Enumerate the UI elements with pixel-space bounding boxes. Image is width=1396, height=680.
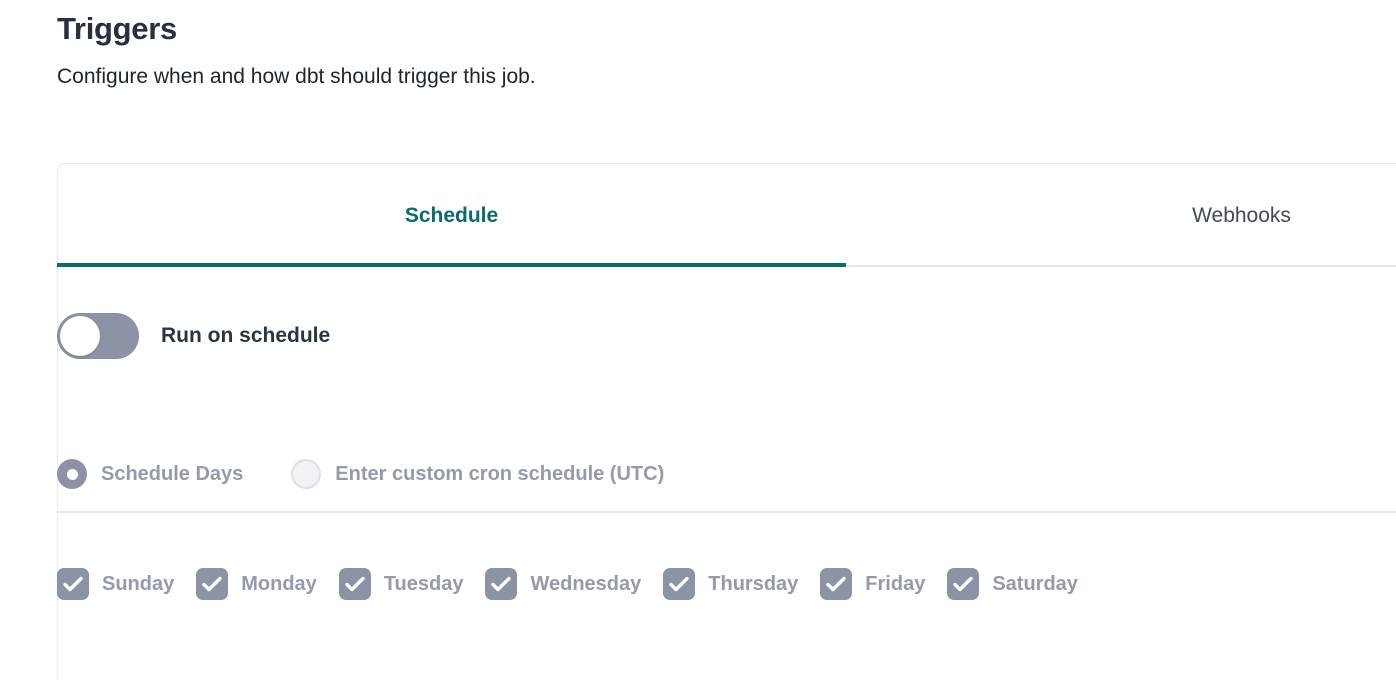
radio-label-custom-cron: Enter custom cron schedule (UTC) [335, 463, 664, 486]
day-label-friday: Friday [865, 573, 925, 596]
day-checkbox-wednesday[interactable]: Wednesday [485, 568, 641, 600]
tab-bar: Schedule Webhooks [58, 164, 1396, 267]
check-icon [196, 568, 228, 600]
check-icon [947, 568, 979, 600]
day-label-sunday: Sunday [102, 573, 174, 596]
check-icon [57, 568, 89, 600]
check-icon [339, 568, 371, 600]
page-title: Triggers [57, 10, 1347, 47]
day-checkbox-tuesday[interactable]: Tuesday [339, 568, 464, 600]
check-icon [663, 568, 695, 600]
tab-schedule[interactable]: Schedule [57, 164, 846, 267]
radio-option-schedule-days[interactable]: Schedule Days [57, 459, 243, 489]
radio-label-schedule-days: Schedule Days [101, 463, 243, 486]
run-on-schedule-row: Run on schedule [57, 313, 330, 359]
tab-webhooks-label: Webhooks [1192, 204, 1291, 228]
day-checkbox-monday[interactable]: Monday [196, 568, 317, 600]
run-on-schedule-label: Run on schedule [161, 324, 330, 348]
day-checkbox-thursday[interactable]: Thursday [663, 568, 798, 600]
page-subtitle: Configure when and how dbt should trigge… [57, 63, 1347, 90]
tab-active-indicator [57, 263, 846, 267]
radio-unchecked-icon [291, 459, 321, 489]
tab-schedule-label: Schedule [405, 204, 498, 228]
radio-checked-icon [57, 459, 87, 489]
check-icon [485, 568, 517, 600]
day-checkbox-saturday[interactable]: Saturday [947, 568, 1078, 600]
run-on-schedule-toggle[interactable] [57, 313, 139, 359]
day-checkbox-sunday[interactable]: Sunday [57, 568, 174, 600]
day-label-saturday: Saturday [992, 573, 1078, 596]
page-header: Triggers Configure when and how dbt shou… [57, 10, 1347, 90]
radio-option-custom-cron[interactable]: Enter custom cron schedule (UTC) [291, 459, 664, 489]
tab-webhooks[interactable]: Webhooks [847, 164, 1396, 267]
schedule-mode-radio-group: Schedule Days Enter custom cron schedule… [57, 459, 664, 489]
day-label-wednesday: Wednesday [530, 573, 641, 596]
day-checkbox-friday[interactable]: Friday [820, 568, 925, 600]
day-label-monday: Monday [241, 573, 317, 596]
day-label-tuesday: Tuesday [384, 573, 464, 596]
toggle-knob [60, 316, 100, 356]
triggers-card: Schedule Webhooks Run on schedule Schedu… [57, 163, 1396, 680]
check-icon [820, 568, 852, 600]
triggers-page: Triggers Configure when and how dbt shou… [0, 0, 1396, 680]
section-divider [57, 511, 1396, 513]
schedule-days-row: Sunday Monday Tuesday Wednesday [57, 568, 1078, 600]
day-label-thursday: Thursday [708, 573, 798, 596]
